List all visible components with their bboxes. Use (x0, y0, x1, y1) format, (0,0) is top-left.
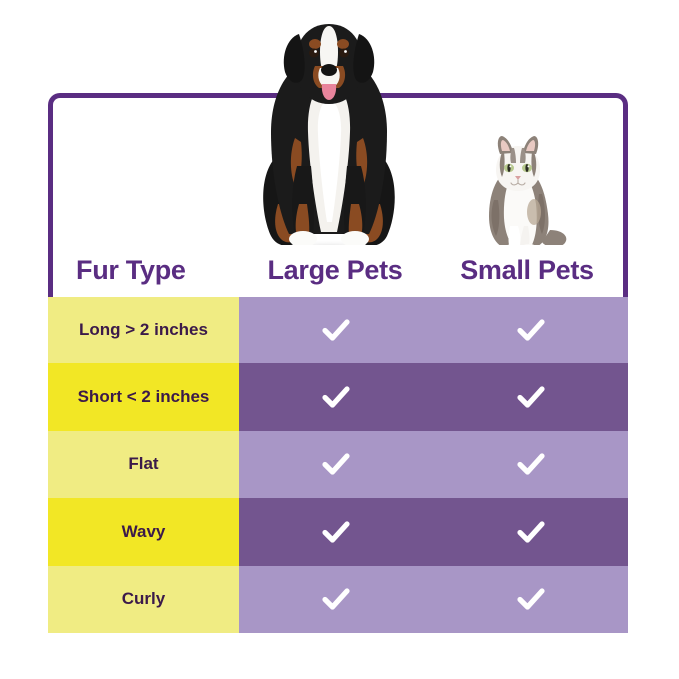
check-icon (319, 515, 353, 549)
table-row: Short < 2 inches (48, 363, 628, 430)
small-pets-cell (434, 566, 629, 633)
check-icon (319, 313, 353, 347)
fur-type-label: Flat (48, 431, 239, 498)
large-pets-cell (239, 498, 434, 565)
check-icon (514, 582, 548, 616)
fur-type-label: Long > 2 inches (48, 296, 239, 363)
small-pets-cell (434, 498, 629, 565)
check-icon (319, 380, 353, 414)
check-icon (514, 447, 548, 481)
large-pets-cell (239, 363, 434, 430)
check-icon (514, 313, 548, 347)
small-pets-cell (434, 431, 629, 498)
column-header-fur-type: Fur Type (53, 255, 239, 286)
check-icon (319, 582, 353, 616)
table-row: Curly (48, 566, 628, 633)
table-row: Flat (48, 431, 628, 498)
comparison-chart-infographic: Fur Type Large Pets Small Pets Long > 2 … (0, 0, 679, 679)
check-icon (514, 515, 548, 549)
fur-type-label: Wavy (48, 498, 239, 565)
large-pets-cell (239, 431, 434, 498)
check-icon (514, 380, 548, 414)
small-pets-cell (434, 296, 629, 363)
table-header-row: Fur Type Large Pets Small Pets (53, 245, 623, 296)
large-pets-cell (239, 566, 434, 633)
fur-type-label: Curly (48, 566, 239, 633)
small-pets-cell (434, 363, 629, 430)
table-body: Long > 2 inches Short < 2 inches (48, 296, 628, 633)
column-header-large-pets: Large Pets (239, 255, 431, 286)
check-icon (319, 447, 353, 481)
large-pets-cell (239, 296, 434, 363)
fur-type-label: Short < 2 inches (48, 363, 239, 430)
table-row: Long > 2 inches (48, 296, 628, 363)
table-row: Wavy (48, 498, 628, 565)
column-header-small-pets: Small Pets (431, 255, 623, 286)
